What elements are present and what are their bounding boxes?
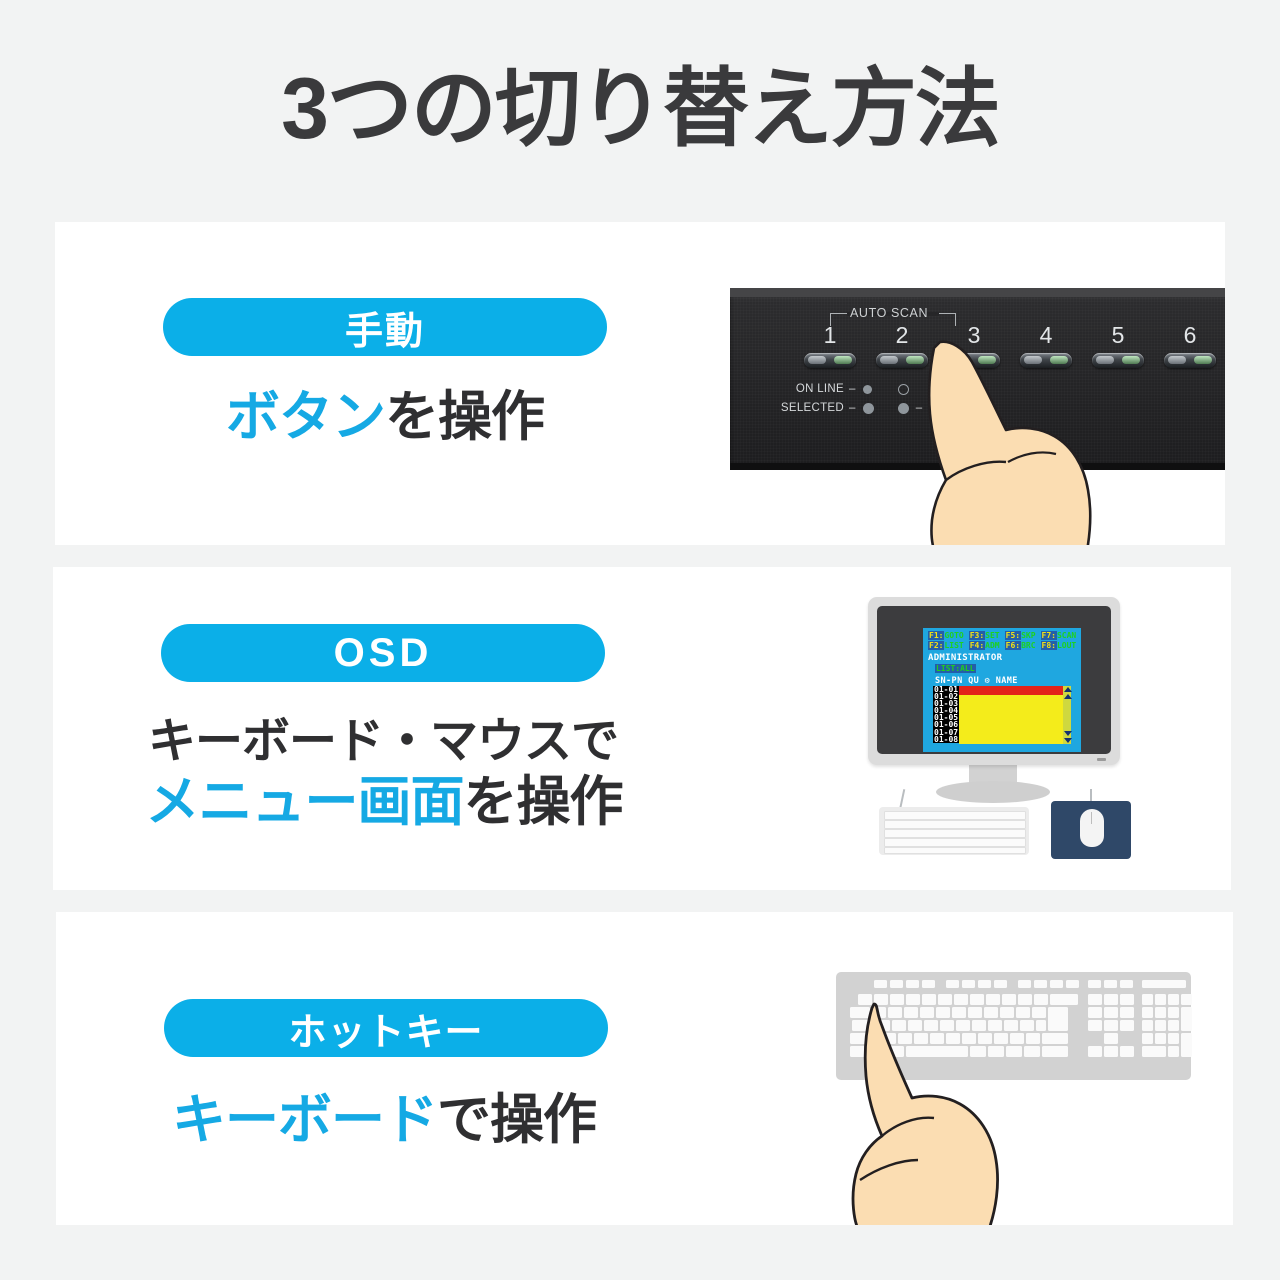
kvm-selected-label: SELECTED [760,399,844,418]
osd-selected-row-bar [959,686,1071,695]
kvm-port-1[interactable]: 1 [798,324,862,368]
caption-manual: ボタンを操作 [163,372,607,451]
selected-led-dot-icon [863,403,874,414]
auto-scan-label: AUTO SCAN [850,306,928,320]
card-hotkey: ホットキー キーボードで操作 [56,912,1233,1225]
osd-scroll-down-icon[interactable] [1064,731,1072,736]
osd-scroll-up-icon[interactable] [1064,687,1072,692]
caption-hotkey-rest: で操作 [437,1090,596,1150]
monitor-bezel: F1:GOTOF3:SETF5:SKPF7:SCAN F2:LISTF4:ADM… [868,597,1120,765]
dash-icon: – [844,380,861,399]
osd-row-labels: 01-01 01-02 01-03 01-04 01-05 01-06 01-0… [933,686,959,743]
osd-f8-key: F8: [1041,641,1057,650]
online-led-dot-icon [863,385,872,394]
osd-f2-label[interactable]: LIST [944,641,968,650]
caption-manual-rest: を操作 [385,387,544,447]
kvm-port-6-number: 6 [1158,324,1222,347]
kvm-port-1-number: 1 [798,324,862,347]
osd-f5-key: F5: [1005,631,1021,640]
osd-f7-key: F7: [1041,631,1057,640]
osd-f4-key: F4: [969,641,985,650]
badge-hotkey: ホットキー [164,999,608,1057]
osd-row-8[interactable]: 01-08 [933,736,959,743]
card-osd: OSD キーボード・マウスで メニュー画面を操作 F1:GOTOF3:SETF5… [53,567,1231,890]
osd-f6-key: F6: [1005,641,1021,650]
kvm-top-edge [730,288,1225,297]
infographic-page: 3つの切り替え方法 手動 ボタンを操作 AUTO SCAN 1 2 3 [0,0,1280,1280]
page-title: 3つの切り替え方法 [0,62,1280,157]
osd-f8-label[interactable]: LOUT [1057,641,1081,650]
osd-f1-label[interactable]: GOTO [944,631,968,640]
osd-f5-label[interactable]: SKP [1021,631,1040,640]
osd-f6-label[interactable]: BRC [1021,641,1040,650]
osd-username: ADMINISTRATOR [928,653,1002,663]
badge-osd: OSD [161,624,605,682]
osd-f3-label[interactable]: SET [985,631,1004,640]
osd-function-keys: F1:GOTOF3:SETF5:SKPF7:SCAN F2:LISTF4:ADM… [928,631,1079,651]
osd-f1-key: F1: [928,631,944,640]
monitor-power-indicator [1097,758,1106,761]
dash-icon-2: – [844,399,861,418]
caption-manual-highlight: ボタン [226,387,385,447]
mouse-illustration[interactable] [1080,809,1104,847]
osd-list-body [959,695,1071,744]
osd-list-mode: LIST:ALL [935,664,976,673]
monitor-screen: F1:GOTOF3:SETF5:SKPF7:SCAN F2:LISTF4:ADM… [877,606,1111,754]
osd-scroll-down-icon-2[interactable] [1064,738,1072,743]
caption-hotkey-highlight: キーボード [172,1090,437,1150]
pointing-hand-icon [890,340,1105,545]
keyboard-illustration[interactable] [879,807,1029,855]
caption-osd-rest: を操作 [464,772,623,832]
osd-scroll-up-icon-2[interactable] [1064,694,1072,699]
pointing-hand-icon-keyboard [838,1002,1048,1225]
osd-port-table[interactable]: 01-01 01-02 01-03 01-04 01-05 01-06 01-0… [933,686,1073,744]
osd-f4-label[interactable]: ADM [985,641,1004,650]
monitor-base [936,781,1050,803]
caption-osd-highlight: メニュー画面 [146,772,464,832]
keyboard-artwork [816,964,1216,1214]
kvm-online-label: ON LINE [760,380,844,399]
osd-f2-key: F2: [928,641,944,650]
card-manual: 手動 ボタンを操作 AUTO SCAN 1 2 3 4 [55,222,1225,545]
monitor-illustration: F1:GOTOF3:SETF5:SKPF7:SCAN F2:LISTF4:ADM… [843,589,1143,869]
osd-menu[interactable]: F1:GOTOF3:SETF5:SKPF7:SCAN F2:LISTF4:ADM… [923,628,1081,752]
osd-fkey-row-2: F2:LISTF4:ADMF6:BRCF8:LOUT [928,641,1079,651]
caption-hotkey: キーボードで操作 [128,1075,640,1154]
kvm-port-1-button[interactable] [804,353,856,368]
osd-f7-label[interactable]: SCAN [1057,631,1081,640]
badge-manual: 手動 [163,298,607,356]
osd-fkey-row-1: F1:GOTOF3:SETF5:SKPF7:SCAN [928,631,1079,641]
caption-osd-line2: メニュー画面を操作 [119,757,649,836]
kvm-port-6-button[interactable] [1164,353,1216,368]
osd-f3-key: F3: [969,631,985,640]
kvm-port-6[interactable]: 6 [1158,324,1222,368]
